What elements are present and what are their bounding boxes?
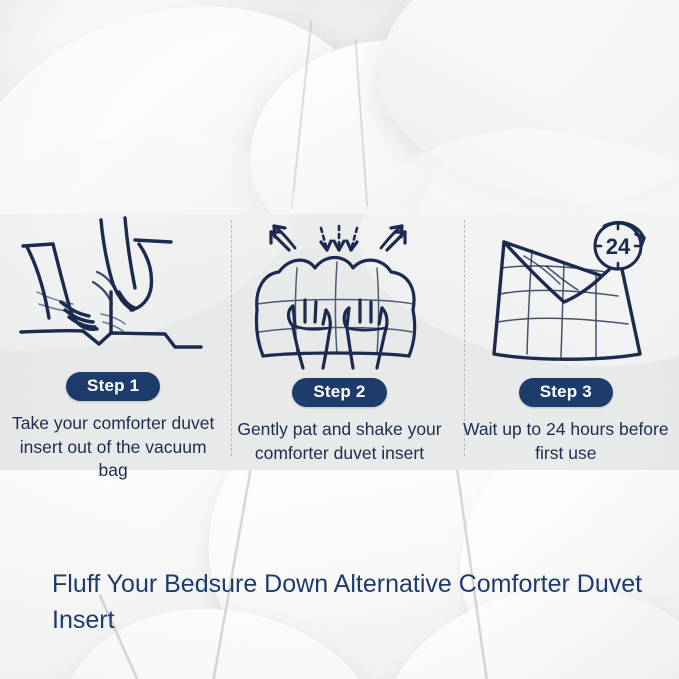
- step-1-badge: Step 1: [66, 372, 160, 401]
- step-2-illustration: [226, 214, 452, 370]
- comforter-seam: [354, 40, 369, 210]
- step-column-1: Step 1 Take your comforter duvet insert …: [0, 214, 226, 482]
- step-2-text: Gently pat and shake your comforter duve…: [236, 418, 442, 466]
- hands-pressing-vacuum-bag-icon: [15, 214, 211, 364]
- step-3-badge: Step 3: [519, 378, 613, 407]
- steps-section: Step 1 Take your comforter duvet insert …: [0, 214, 679, 482]
- comforter-seam: [290, 20, 313, 209]
- timer-label: 24: [606, 234, 631, 259]
- page-headline: Fluff Your Bedsure Down Alternative Comf…: [52, 567, 662, 638]
- step-3-text: Wait up to 24 hours before first use: [463, 418, 669, 466]
- step-column-2: Step 2 Gently pat and shake your comfort…: [226, 214, 452, 482]
- folded-comforter-with-24-hour-timer-icon: 24: [480, 220, 652, 370]
- comforter-seam: [452, 2, 491, 148]
- step-1-text: Take your comforter duvet insert out of …: [10, 412, 216, 483]
- step-column-3: 24 Step 3 Wait up to 24 hours before fir…: [453, 214, 679, 482]
- step-3-illustration: 24: [453, 214, 679, 370]
- step-2-badge: Step 2: [292, 378, 386, 407]
- hands-patting-comforter-with-arrows-icon: [249, 218, 429, 370]
- step-1-illustration: [0, 214, 226, 364]
